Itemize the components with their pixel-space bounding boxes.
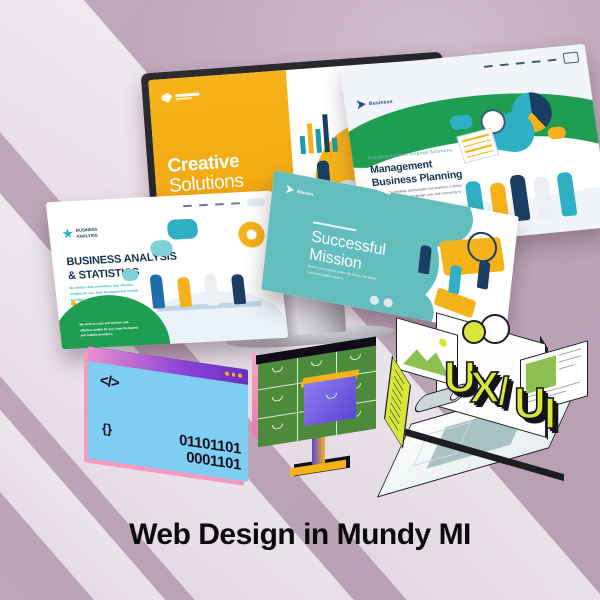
- mission-logo-text: Mission: [297, 188, 314, 196]
- management-nav-button[interactable]: [563, 52, 579, 64]
- creative-logo: [161, 90, 202, 103]
- management-nav[interactable]: [483, 52, 579, 72]
- business-analysis-page: BUSINESS ANALYSIS BUSINESS ANALYSIS & ST…: [46, 191, 289, 350]
- business-analysis-logo-text: BUSINESS ANALYSIS: [76, 227, 99, 239]
- binary-text: 01101101 0001101: [179, 432, 241, 474]
- green-blob-text: We work to scale and achieve real, effec…: [79, 319, 143, 339]
- uxui-letter-4: I: [544, 392, 556, 436]
- play-triangle-icon: [286, 185, 295, 194]
- business-analysis-logo: BUSINESS ANALYSIS: [62, 227, 99, 240]
- monitor-stand: [312, 435, 325, 465]
- creative-heading: Creative Solutions: [167, 152, 244, 197]
- uxui-laptop-scene[interactable]: U X / U I: [388, 318, 588, 486]
- uxui-letters: U X / U I: [444, 338, 564, 424]
- code-browser-window[interactable]: </> {} 01101101 0001101: [88, 358, 248, 470]
- speech-bubble-icon: [166, 218, 198, 239]
- star-icon: [62, 228, 74, 240]
- business-analysis-nav[interactable]: [183, 198, 266, 210]
- uxui-letter-1: X: [470, 366, 499, 410]
- code-brace-icon: {}: [102, 420, 112, 436]
- management-logo: Business: [356, 97, 393, 109]
- business-analysis-nav-button[interactable]: [247, 198, 266, 207]
- code-window-screen: </> {} 01101101 0001101: [88, 346, 248, 482]
- uxui-letter-3: U: [514, 382, 546, 426]
- file-manager-monitor[interactable]: [252, 344, 384, 480]
- management-logo-text: Business: [368, 98, 393, 106]
- poster-canvas: Creative Solutions Digital Creative Busi…: [0, 0, 600, 600]
- uxui-letter-2: /: [498, 372, 509, 412]
- card-business-analysis-statistics[interactable]: BUSINESS ANALYSIS BUSINESS ANALYSIS & ST…: [46, 191, 289, 350]
- page-title: Web Design in Mundy MI: [0, 518, 600, 552]
- open-folder-drawer[interactable]: [304, 376, 356, 426]
- gear-icon: [237, 221, 266, 248]
- speech-bubble-icon-3: [121, 269, 138, 282]
- code-tag-icon: </>: [100, 372, 119, 392]
- window-control-dots[interactable]: [225, 371, 242, 377]
- logo-line-2: ANALYSIS: [76, 232, 98, 239]
- play-triangle-icon: [356, 100, 366, 110]
